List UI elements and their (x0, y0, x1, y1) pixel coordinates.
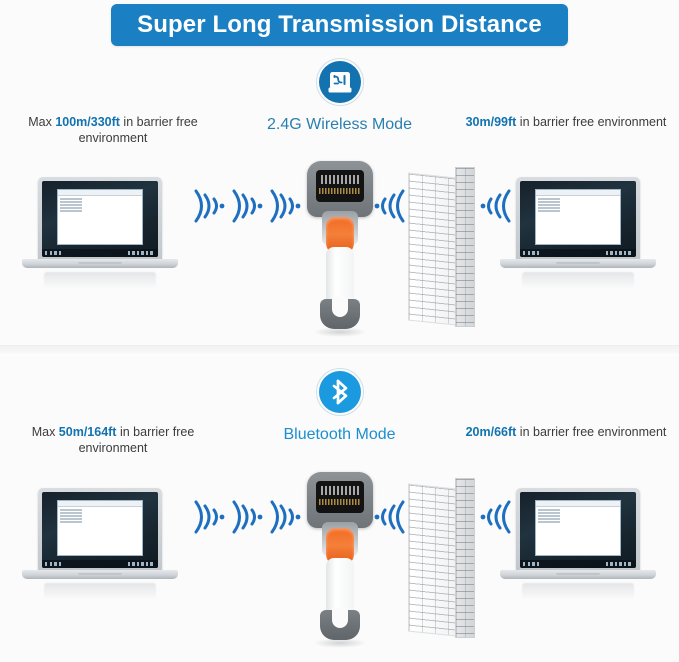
laptop-reflection (44, 583, 156, 599)
laptop-lid (38, 488, 162, 572)
display-line-2 (319, 499, 361, 505)
display-line-1 (321, 175, 359, 184)
labels-bluetooth: Max 50m/164ft in barrier free environmen… (0, 424, 679, 466)
scanner-display (316, 170, 364, 202)
page-title: Super Long Transmission Distance (111, 4, 568, 46)
laptop-left (22, 488, 178, 600)
taskbar (520, 560, 636, 568)
taskbar-tray-icons (128, 562, 155, 568)
scanner-foot-notch (332, 297, 348, 317)
app-window (57, 500, 143, 556)
laptop-right (500, 177, 656, 289)
scanner-display (316, 481, 364, 513)
laptop-reflection (522, 272, 634, 288)
taskbar-tray-icons (128, 251, 155, 257)
right-suffix: in barrier free environment (516, 115, 666, 129)
scanner-shadow (313, 327, 367, 337)
labels-24g: Max 100m/330ft in barrier free environme… (0, 114, 679, 156)
title-area: Super Long Transmission Distance (0, 4, 679, 46)
display-line-2 (319, 188, 361, 194)
laptop-lid (516, 177, 640, 261)
laptop-screen (520, 492, 636, 568)
wall-front-face (408, 483, 456, 636)
bluetooth-glyph (319, 371, 361, 413)
panel-divider (0, 345, 679, 356)
scene-24g (0, 157, 679, 332)
panel-24g: Max 100m/330ft in barrier free environme… (0, 52, 679, 342)
window-content-lines (60, 509, 82, 523)
laptop-left (22, 177, 178, 289)
right-distance-label-24g: 30m/99ft in barrier free environment (461, 114, 671, 130)
laptop-trackpad-notch (78, 262, 122, 265)
taskbar (42, 560, 158, 568)
app-window (57, 189, 143, 245)
window-titlebar (536, 501, 620, 507)
infographic-page: Super Long Transmission Distance Max 100… (0, 0, 679, 662)
barcode-scanner-24g (303, 161, 377, 329)
wall-side-face (455, 167, 475, 327)
laptop-trackpad-notch (78, 573, 122, 576)
right-distance-value: 20m/66ft (466, 425, 517, 439)
app-window (535, 189, 621, 245)
window-content-lines (538, 198, 560, 212)
signal-waves-left-bt (190, 496, 305, 538)
laptop-lid (516, 488, 640, 572)
window-titlebar (58, 190, 142, 196)
taskbar (42, 249, 158, 257)
left-prefix: Max (28, 115, 55, 129)
taskbar-tray-icons (606, 562, 633, 568)
right-distance-label-bt: 20m/66ft in barrier free environment (461, 424, 671, 440)
window-content-lines (538, 509, 560, 523)
laptop-reflection (44, 272, 156, 288)
right-suffix: in barrier free environment (516, 425, 666, 439)
scanner-shadow (313, 638, 367, 648)
right-distance-value: 30m/99ft (466, 115, 517, 129)
laptop-trackpad-notch (556, 262, 600, 265)
signal-waves-left-24g (190, 185, 305, 227)
mode-label-24g: 2.4G Wireless Mode (267, 116, 412, 134)
wireless-router-icon (316, 58, 364, 106)
window-titlebar (536, 190, 620, 196)
laptop-screen (42, 181, 158, 257)
taskbar-start-icons (523, 562, 541, 568)
display-line-1 (321, 486, 359, 495)
left-distance-value: 100m/330ft (55, 115, 120, 129)
laptop-lid (38, 177, 162, 261)
window-content-lines (60, 198, 82, 212)
scanner-head (307, 161, 373, 217)
router-glyph (319, 61, 361, 103)
signal-waves-prewall-bt (372, 496, 410, 538)
wall-front-face (408, 172, 456, 325)
scene-bluetooth (0, 468, 679, 643)
taskbar-start-icons (45, 562, 63, 568)
mode-label-bt: Bluetooth Mode (283, 426, 395, 444)
window-titlebar (58, 501, 142, 507)
left-distance-label-bt: Max 50m/164ft in barrier free environmen… (8, 424, 218, 456)
brick-wall-bt (408, 478, 476, 638)
laptop-reflection (522, 583, 634, 599)
brick-wall-24g (408, 167, 476, 327)
bluetooth-icon (316, 368, 364, 416)
panel-bluetooth: Max 50m/164ft in barrier free environmen… (0, 358, 679, 662)
barcode-scanner-bt (303, 472, 377, 640)
wall-side-face (455, 478, 475, 638)
taskbar-start-icons (45, 251, 63, 257)
laptop-trackpad-notch (556, 573, 600, 576)
left-distance-value: 50m/164ft (59, 425, 117, 439)
laptop-screen (520, 181, 636, 257)
taskbar (520, 249, 636, 257)
laptop-right (500, 488, 656, 600)
left-prefix: Max (32, 425, 59, 439)
scanner-foot-notch (332, 608, 348, 628)
laptop-screen (42, 492, 158, 568)
taskbar-start-icons (523, 251, 541, 257)
taskbar-tray-icons (606, 251, 633, 257)
scanner-head (307, 472, 373, 528)
signal-waves-prewall-24g (372, 185, 410, 227)
app-window (535, 500, 621, 556)
left-distance-label-24g: Max 100m/330ft in barrier free environme… (8, 114, 218, 146)
